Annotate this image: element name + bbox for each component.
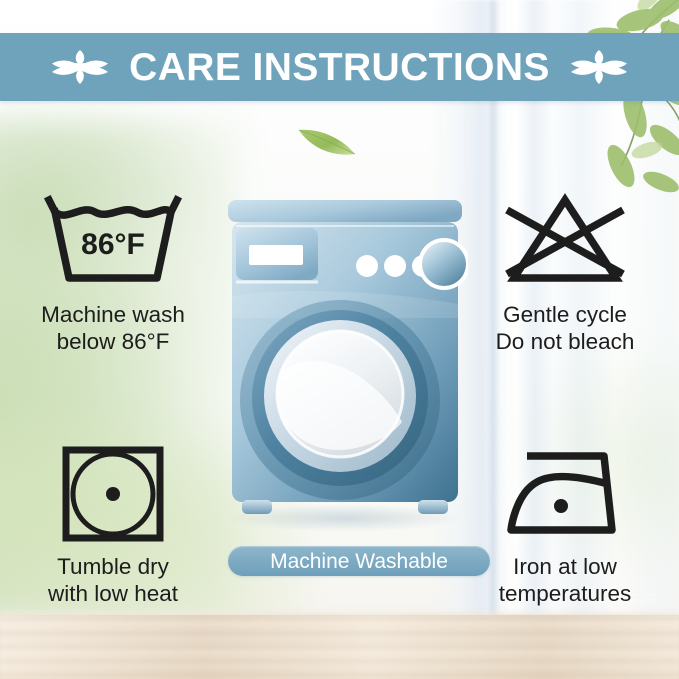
machine-washable-badge: Machine Washable [228,546,490,576]
control-knob[interactable] [422,242,466,286]
care-symbol-tumble-dry: Tumble dry with low heat [8,444,218,608]
washer-top-lid [228,200,462,222]
care-symbol-label-machine-wash: Machine wash below 86°F [41,301,185,356]
wash-temperature-value: 86°F [81,228,145,261]
tumble-dry-square-circle-icon [37,444,189,544]
care-symbol-machine-wash: 86°F Machine wash below 86°F [8,192,218,356]
washer-foot-left [242,500,272,514]
fleur-de-lis-icon-right [570,46,628,88]
header-banner: CARE INSTRUCTIONS [0,33,679,101]
machine-washable-badge-label: Machine Washable [270,551,448,572]
care-symbol-label-tumble-dry: Tumble dry with low heat [48,553,178,608]
washer-foot-right [418,500,448,514]
page-title: CARE INSTRUCTIONS [123,48,556,87]
foliage-branch-icon [517,0,679,205]
iron-one-dot-icon [489,444,641,544]
washer-button-1[interactable] [356,255,378,277]
care-symbol-label-iron: Iron at low temperatures [499,553,632,608]
washing-machine-illustration [222,200,468,535]
care-symbol-gentle-cycle-no-bleach: Gentle cycle Do not bleach [460,192,670,356]
fleur-de-lis-icon-left [51,46,109,88]
washer-button-2[interactable] [384,255,406,277]
care-symbol-iron: Iron at low temperatures [460,444,670,608]
care-instructions-infographic: CARE INSTRUCTIONS 86°F Machine wash belo… [0,0,679,679]
detergent-drawer-handle [249,245,303,265]
wash-tub-icon: 86°F [37,192,189,292]
table-wood-grain [0,615,679,679]
triangle-crossed-out-icon [489,192,641,292]
floating-leaf-icon [296,124,358,158]
care-symbol-label-gentle-cycle: Gentle cycle Do not bleach [496,301,635,356]
